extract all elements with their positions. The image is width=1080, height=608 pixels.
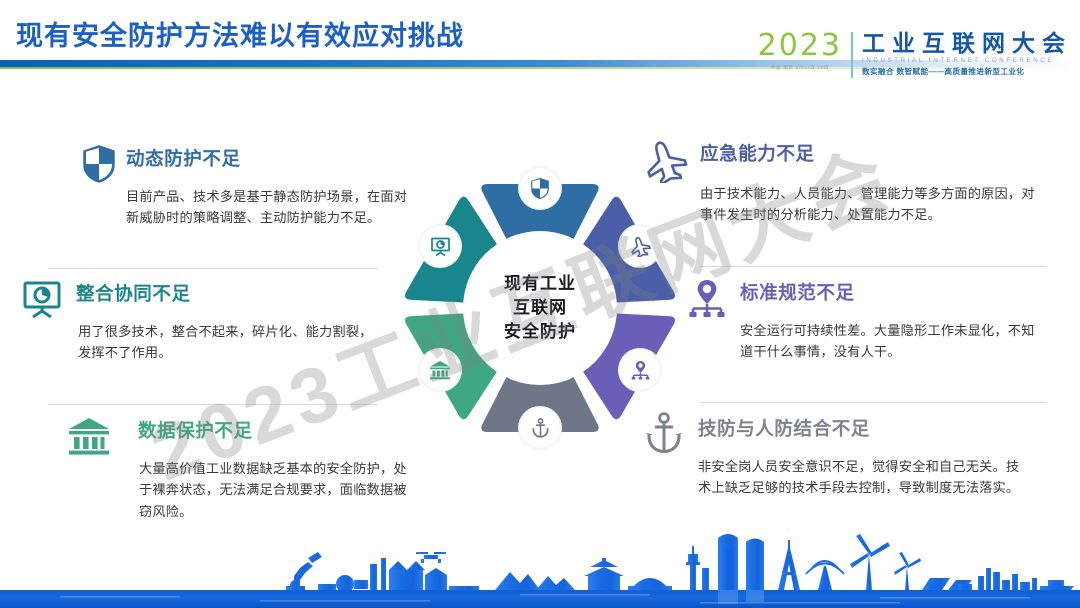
divider-right-2 [700, 402, 1046, 403]
feature-body: 大量高价值工业数据缺乏基本的安全防护，处于裸奔状态，无法满足合规要求，面临数据被… [139, 458, 411, 522]
feature-title: 整合协同不足 [76, 278, 191, 307]
conference-logo: 2023 中国·南京 8月14日-18日 工业互联网大会 INDUSTRIAL … [758, 31, 1072, 83]
feature-header: 整合协同不足 [14, 278, 382, 320]
feature-title: 标准规范不足 [740, 277, 855, 306]
feature-body: 非安全岗人员安全意识不足，觉得安全和自己无关。技术上缺乏足够的技术手段去控制，导… [698, 456, 1020, 499]
slide-canvas: 现有安全防护方法难以有效应对挑战 2023 中国·南京 8月14日-18日 工业… [0, 0, 1080, 608]
wheel-center-label: 现有工业 互联网 安全防护 [466, 234, 614, 382]
wheel-badge-presentation[interactable] [420, 226, 460, 266]
wheel-badge-airplane[interactable] [620, 226, 660, 266]
wheel-center-line-2: 互联网 [513, 296, 567, 320]
logo-year-subtitle: 中国·南京 8月14日-18日 [771, 65, 829, 71]
feature-tech-human-defense[interactable]: 技防与人防结合不足 非安全岗人员安全意识不足，觉得安全和自己无关。技术上缺乏足够… [636, 413, 1046, 499]
feature-dynamic-protection[interactable]: 动态防护不足 目前产品、技术多是基于静态防护场景，在面对新威胁时的策略调整、主动… [78, 143, 408, 229]
divider-left-2 [48, 404, 378, 405]
logo-year-block: 2023 中国·南京 8月14日-18日 [758, 31, 851, 71]
bank-icon [46, 415, 132, 457]
divider-right-1 [700, 266, 1046, 267]
feature-header: 数据保护不足 [46, 415, 408, 457]
wheel-badge-shield[interactable] [520, 168, 560, 208]
logo-year: 2023 [758, 31, 842, 61]
hexagon-wheel-diagram: 现有工业 互联网 安全防护 [404, 172, 676, 444]
wheel-badge-bank[interactable] [420, 350, 460, 390]
shield-icon [78, 143, 120, 185]
wheel-badge-org-chart[interactable] [620, 350, 660, 390]
feature-header: 标准规范不足 [680, 277, 1052, 319]
page-title: 现有安全防护方法难以有效应对挑战 [16, 14, 464, 53]
feature-header: 技防与人防结合不足 [636, 413, 1046, 455]
logo-name-en: INDUSTRIAL INTERNET CONFERENCE [862, 57, 1072, 64]
feature-data-protection[interactable]: 数据保护不足 大量高价值工业数据缺乏基本的安全防护，处于裸奔状态，无法满足合规要… [46, 415, 408, 522]
divider-left-1 [48, 268, 378, 269]
feature-title: 动态防护不足 [126, 143, 241, 172]
presentation-icon [14, 278, 70, 320]
feature-body: 目前产品、技术多是基于静态防护场景，在面对新威胁时的策略调整、主动防护能力不足。 [126, 186, 408, 229]
wheel-center-line-1: 现有工业 [504, 272, 576, 296]
feature-title: 应急能力不足 [700, 138, 815, 167]
feature-integration-coordination[interactable]: 整合协同不足 用了很多技术，整合不起来，碎片化、能力割裂，发挥不了作用。 [14, 278, 382, 364]
wheel-center-line-3: 安全防护 [504, 320, 576, 344]
feature-emergency-capability[interactable]: 应急能力不足 由于技术能力、人员能力、管理能力等多方面的原因，对事件发生时的分析… [636, 138, 1048, 226]
feature-header: 动态防护不足 [78, 143, 408, 185]
feature-standards-specifications[interactable]: 标准规范不足 安全运行可持续性差。大量隐形工作未显化，不知道干什么事情，没有人干… [680, 277, 1052, 363]
org-chart-icon [680, 277, 734, 319]
logo-name-block: 工业互联网大会 INDUSTRIAL INTERNET CONFERENCE 数… [853, 31, 1072, 77]
logo-slogan: 数实融合 数智赋能——高质量推进新型工业化 [862, 66, 1072, 77]
feature-title: 技防与人防结合不足 [698, 413, 870, 442]
wheel-badge-anchor[interactable] [520, 408, 560, 448]
feature-body: 用了很多技术，整合不起来，碎片化、能力割裂，发挥不了作用。 [78, 321, 382, 364]
logo-name-cn: 工业互联网大会 [862, 31, 1072, 55]
feature-body: 由于技术能力、人员能力、管理能力等多方面的原因，对事件发生时的分析能力、处置能力… [700, 183, 1048, 226]
feature-header: 应急能力不足 [636, 138, 1048, 182]
feature-body: 安全运行可持续性差。大量隐形工作未显化，不知道干什么事情，没有人干。 [740, 320, 1042, 363]
feature-title: 数据保护不足 [138, 415, 253, 444]
city-industry-skyline-silhouette [0, 528, 1080, 608]
